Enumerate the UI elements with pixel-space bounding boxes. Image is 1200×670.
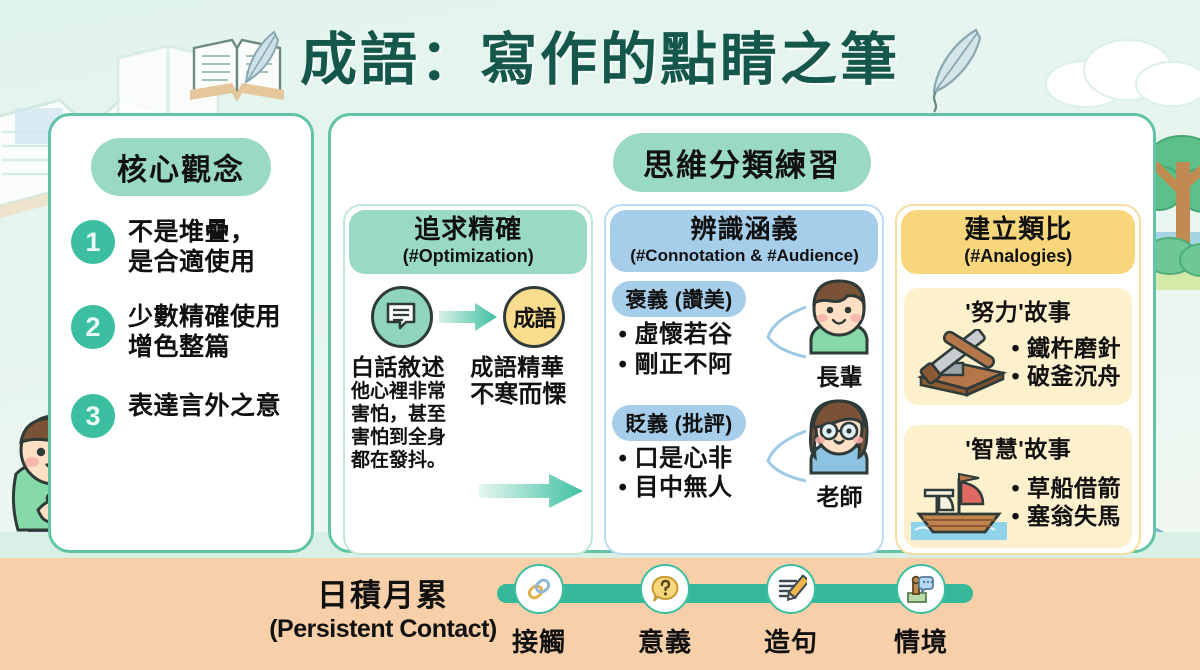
audience-label: 老師 (802, 478, 876, 512)
core-item-text: 表達言外之意 (128, 392, 281, 422)
story-title: '智慧'故事 (911, 430, 1125, 464)
audience-elder: 長輩 (802, 277, 876, 392)
arrow-right-icon (437, 300, 499, 334)
list-item: 3 表達言外之意 (71, 392, 297, 438)
step-contact[interactable]: 接觸 (491, 564, 587, 659)
list-item: 1 不是堆疊，是合適使用 (71, 218, 297, 277)
footer-title-en: (Persistent Contact) (268, 615, 498, 644)
pencil-document-icon (766, 564, 816, 614)
footer-title: 日積月累 (Persistent Contact) (268, 570, 498, 644)
column-title-zh: 辨識涵義 (616, 215, 872, 245)
plain-language-title: 白話敘述 (351, 354, 466, 382)
practice-columns: 追求精確 (#Optimization) (331, 192, 1153, 567)
core-concepts-list: 1 不是堆疊，是合適使用 2 少數精確使用增色整篇 3 表達言外之意 (51, 218, 311, 438)
column-optimization-header: 追求精確 (#Optimization) (349, 210, 587, 274)
story-row: • 草船借箭 • 塞翁失馬 (911, 466, 1125, 540)
footer-steps: 接觸 意義 (497, 564, 973, 660)
idiom-essence-block: 成語精華 不寒而慄 (466, 354, 585, 473)
footer: 日積月累 (Persistent Contact) 接觸 (0, 558, 1200, 670)
core-concepts-panel: 核心觀念 1 不是堆疊，是合適使用 2 少數精確使用增色整篇 3 表達言外之意 (48, 113, 314, 553)
speech-bubble-icon (371, 286, 433, 348)
negative-tag: 貶義 (批評) (612, 405, 745, 441)
practice-heading: 思維分類練習 (613, 133, 871, 192)
plain-language-block: 白話敘述 他心裡非常害怕，甚至害怕到全身都在發抖。 (351, 354, 466, 473)
column-title-en: (#Optimization) (355, 246, 581, 267)
idiom-circle: 成語 (503, 286, 565, 348)
audience-teacher: 老師 (802, 397, 876, 512)
column-title-zh: 建立類比 (907, 215, 1129, 245)
audience-label: 長輩 (802, 358, 876, 392)
list-item: • 草船借箭 (1011, 475, 1120, 503)
core-concepts-heading: 核心觀念 (91, 138, 271, 196)
person-speech-bubble-icon (896, 564, 946, 614)
number-badge: 2 (71, 305, 115, 349)
core-item-text: 少數精確使用增色整篇 (128, 303, 281, 362)
positive-tag: 褒義 (讚美) (612, 281, 745, 317)
page-header: 成語：寫作的點睛之筆 (0, 14, 1200, 106)
column-title-en: (#Analogies) (907, 246, 1129, 267)
arrow-right-icon (477, 471, 585, 511)
story-idiom-list: • 草船借箭 • 塞翁失馬 (1011, 475, 1120, 530)
pestle-grinding-needle-icon (911, 329, 1007, 397)
girl-glasses-face-icon (803, 397, 875, 475)
step-label: 情境 (873, 622, 969, 659)
story-idiom-list: • 鐵杵磨針 • 破釜沉舟 (1011, 335, 1120, 390)
step-label: 意義 (617, 622, 713, 659)
column-connotation: 辨識涵義 (#Connotation & #Audience) 褒義 (讚美) … (604, 204, 884, 555)
column-analogies-header: 建立類比 (#Analogies) (901, 210, 1135, 274)
footer-title-zh: 日積月累 (268, 570, 498, 615)
column-optimization: 追求精確 (#Optimization) (343, 204, 593, 555)
column-analogies: 建立類比 (#Analogies) '努力'故事 (895, 204, 1141, 555)
column-title-zh: 追求精確 (355, 215, 581, 245)
plain-language-body: 他心裡非常害怕，甚至害怕到全身都在發抖。 (351, 381, 466, 472)
step-label: 接觸 (491, 622, 587, 659)
negative-connotation-group: 貶義 (批評) • 口是心非 • 目中無人 (612, 405, 882, 503)
idiom-essence-body: 不寒而慄 (470, 381, 585, 409)
list-item: • 破釜沉舟 (1011, 363, 1120, 391)
chain-link-icon (514, 564, 564, 614)
sailing-boat-icon (911, 466, 1007, 540)
step-meaning[interactable]: 意義 (617, 564, 713, 659)
number-badge: 3 (71, 394, 115, 438)
comparison-row: 白話敘述 他心裡非常害怕，甚至害怕到全身都在發抖。 成語精華 不寒而慄 (345, 354, 591, 473)
page-title: 成語：寫作的點睛之筆 (300, 32, 900, 89)
number-badge: 1 (71, 220, 115, 264)
step-label: 造句 (743, 622, 839, 659)
list-item: 2 少數精確使用增色整篇 (71, 303, 297, 362)
column-connotation-header: 辨識涵義 (#Connotation & #Audience) (610, 210, 878, 272)
practice-panel: 思維分類練習 追求精確 (#Optimization) (328, 113, 1156, 553)
core-item-text: 不是堆疊，是合適使用 (128, 218, 256, 277)
story-wisdom: '智慧'故事 (904, 425, 1132, 548)
list-item: • 鐵杵磨針 (1011, 335, 1120, 363)
story-row: • 鐵杵磨針 • 破釜沉舟 (911, 329, 1125, 397)
positive-connotation-group: 褒義 (讚美) • 虛懷若谷 • 剛正不阿 (612, 281, 882, 379)
list-item: • 塞翁失馬 (1011, 503, 1120, 531)
step-context[interactable]: 情境 (873, 564, 969, 659)
column-title-en: (#Connotation & #Audience) (616, 246, 872, 266)
transformation-flow: 成語 (345, 286, 591, 348)
step-sentence[interactable]: 造句 (743, 564, 839, 659)
boy-face-icon (803, 277, 875, 355)
panels-row: 核心觀念 1 不是堆疊，是合適使用 2 少數精確使用增色整篇 3 表達言外之意 … (48, 113, 1156, 553)
story-effort: '努力'故事 (904, 288, 1132, 405)
idiom-essence-title: 成語精華 (470, 354, 585, 382)
question-speech-bubble-icon (640, 564, 690, 614)
story-title: '努力'故事 (911, 293, 1125, 327)
